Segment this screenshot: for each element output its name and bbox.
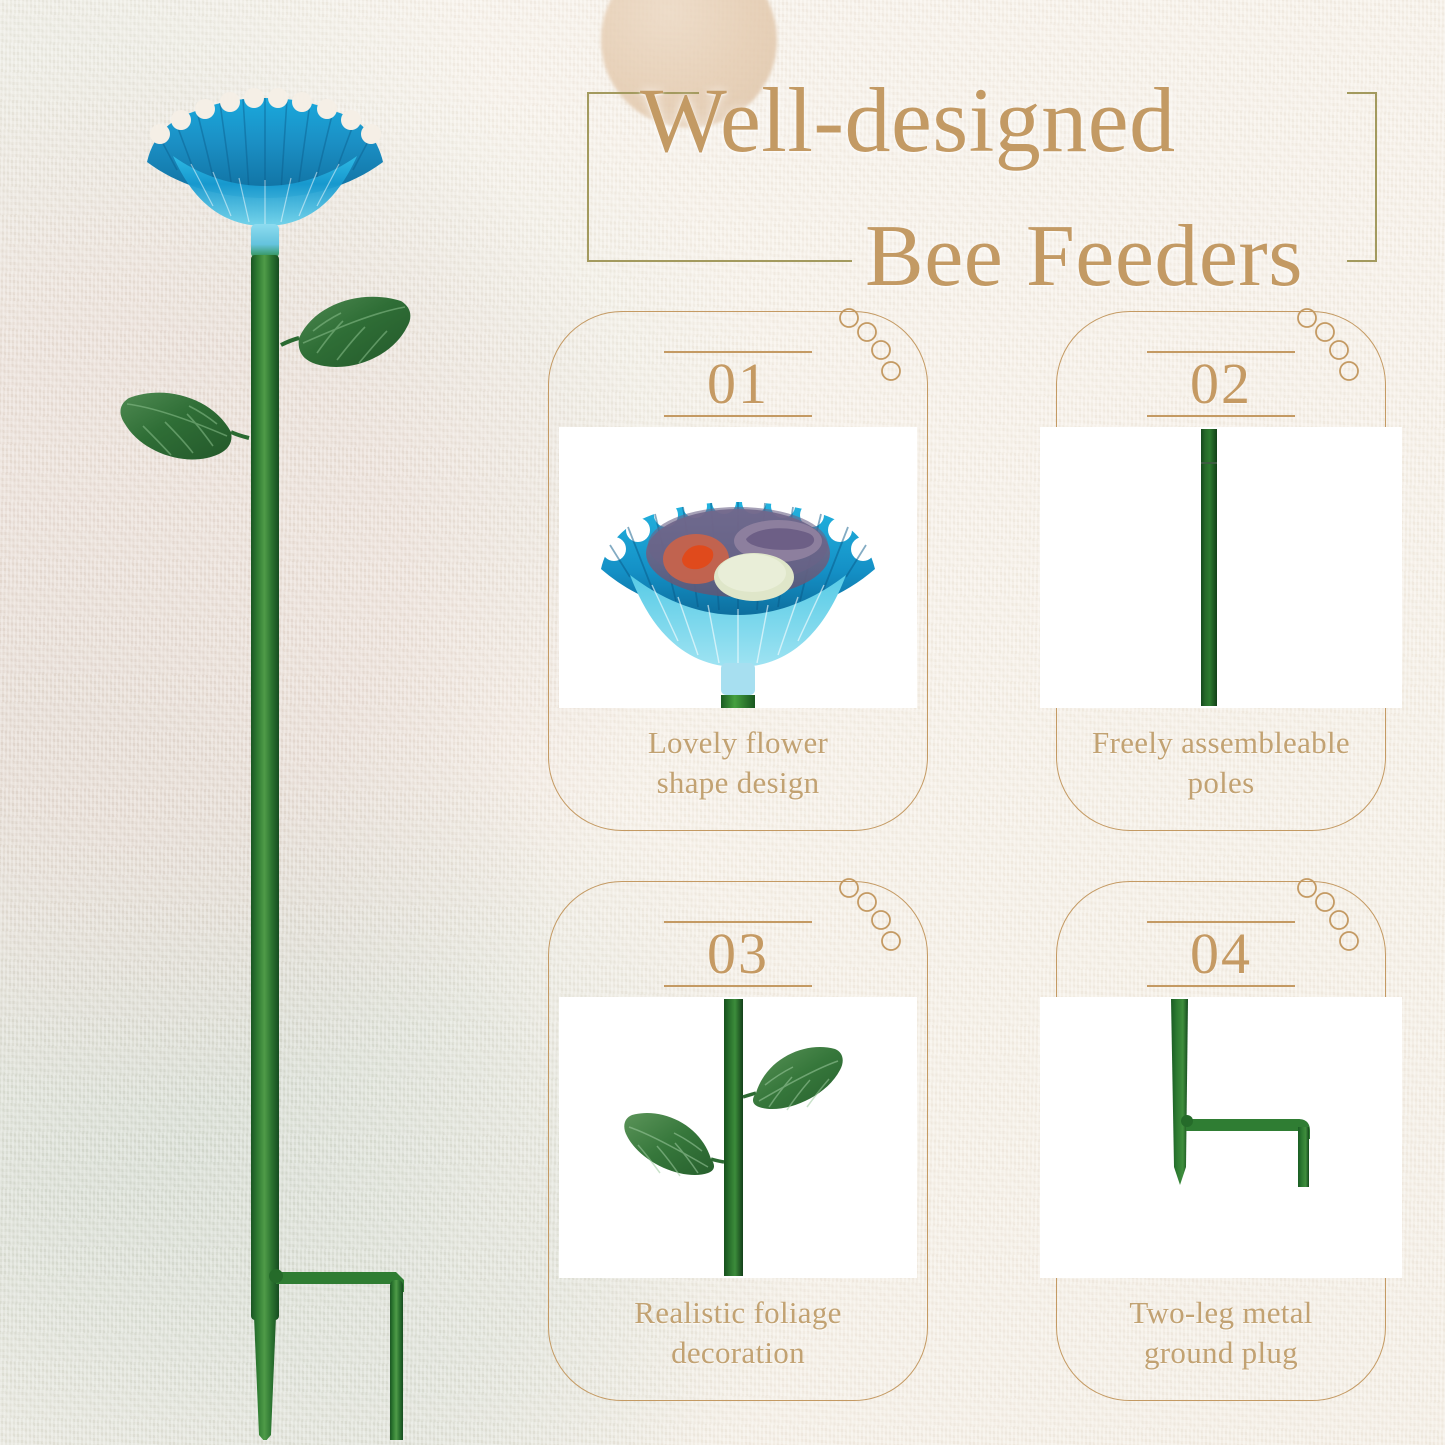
hero-product-svg bbox=[80, 40, 480, 1440]
card-number: 04 bbox=[1056, 923, 1386, 985]
flower-bowl bbox=[147, 88, 383, 258]
bracket-right-vertical bbox=[1375, 92, 1377, 262]
card-photo bbox=[1040, 427, 1402, 708]
main-spike bbox=[1171, 999, 1188, 1185]
pole-upper-section bbox=[1201, 429, 1217, 462]
leaf-lower bbox=[624, 1113, 724, 1176]
pole bbox=[251, 255, 279, 1320]
feature-card-04[interactable]: 04 bbox=[1056, 881, 1386, 1401]
infographic-canvas: Well-designed Bee Feeders bbox=[0, 0, 1445, 1445]
collar bbox=[251, 224, 279, 258]
caption-line-1: Lovely flower bbox=[534, 723, 942, 763]
card-number: 01 bbox=[548, 353, 928, 415]
title-line-1: Well-designed bbox=[640, 72, 1176, 168]
leaf-lower bbox=[120, 393, 249, 460]
hero-product-image bbox=[80, 40, 480, 1440]
caption-line-2: ground plug bbox=[1036, 1333, 1406, 1373]
leaf-upper bbox=[281, 297, 410, 367]
joint-knob bbox=[1181, 1115, 1193, 1127]
assembleable-pole-photo bbox=[1040, 427, 1402, 708]
leaf-upper bbox=[743, 1047, 843, 1110]
card-caption: Lovely flower shape design bbox=[534, 723, 942, 803]
caption-line-1: Two-leg metal bbox=[1036, 1293, 1406, 1333]
title-block: Well-designed Bee Feeders bbox=[560, 36, 1400, 266]
card-caption: Freely assembleable poles bbox=[1030, 723, 1412, 803]
crossbar bbox=[1186, 1119, 1310, 1139]
bracket-left-vertical bbox=[587, 92, 589, 262]
card-photo bbox=[1040, 997, 1402, 1278]
card-photo bbox=[559, 427, 917, 708]
two-leg-ground-plug-photo bbox=[1040, 997, 1402, 1278]
title-line-2: Bee Feeders bbox=[865, 211, 1303, 303]
feature-card-02[interactable]: 02 Freely assembleable poles bbox=[1056, 311, 1386, 831]
second-leg-shaft bbox=[1298, 1127, 1309, 1187]
card-number: 03 bbox=[548, 923, 928, 985]
card-number: 02 bbox=[1056, 353, 1386, 415]
photo-pole bbox=[724, 999, 743, 1276]
flower-bowl-with-stones-photo bbox=[559, 427, 917, 708]
two-leg-ground-plug bbox=[251, 1245, 404, 1440]
card-caption: Realistic foliage decoration bbox=[534, 1293, 942, 1373]
caption-line-2: shape design bbox=[534, 763, 942, 803]
caption-line-2: poles bbox=[1030, 763, 1412, 803]
card-number-block: 04 bbox=[1056, 921, 1386, 987]
card-caption: Two-leg metal ground plug bbox=[1036, 1293, 1406, 1373]
card-photo bbox=[559, 997, 917, 1278]
caption-line-1: Freely assembleable bbox=[1030, 723, 1412, 763]
bracket-top-right-horizontal bbox=[1347, 92, 1377, 94]
bracket-bottom-right-horizontal bbox=[1347, 260, 1377, 262]
caption-line-2: decoration bbox=[534, 1333, 942, 1373]
feature-card-01[interactable]: 01 bbox=[548, 311, 928, 831]
pole-lower-section bbox=[1201, 464, 1217, 706]
pole-with-leaves-photo bbox=[559, 997, 917, 1278]
card-number-block: 03 bbox=[548, 921, 928, 987]
caption-line-1: Realistic foliage bbox=[534, 1293, 942, 1333]
photo-pole bbox=[721, 695, 755, 708]
card-number-block: 01 bbox=[548, 351, 928, 417]
bracket-bottom-left-horizontal bbox=[587, 260, 852, 262]
feature-card-03[interactable]: 03 bbox=[548, 881, 928, 1401]
card-number-block: 02 bbox=[1056, 351, 1386, 417]
